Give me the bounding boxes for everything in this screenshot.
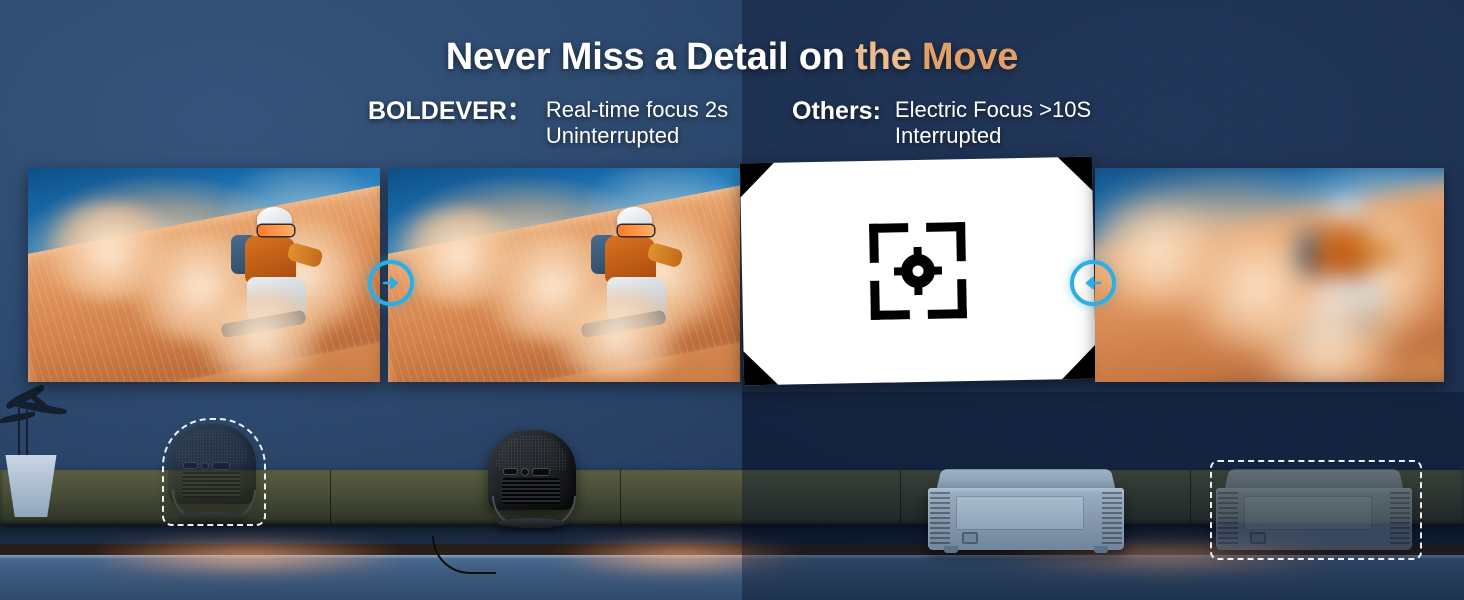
panel-others-result[interactable]: [1095, 168, 1444, 382]
card-corner-top-left-icon: [740, 163, 775, 198]
boldever-ghost-outline: [162, 418, 266, 526]
headline-part-3: Move: [922, 36, 1018, 78]
sandboarder-photo-sharp-2: [388, 168, 740, 382]
panel-boldever-before[interactable]: [28, 168, 380, 382]
autofocus-target-icon: [869, 222, 967, 320]
boldever-label: BOLDEVER：: [368, 97, 532, 125]
comparison-slider-handle-right[interactable]: [1070, 260, 1116, 306]
panel-boldever-after[interactable]: [388, 168, 740, 382]
others-label: Others:: [792, 97, 881, 125]
card-corner-bottom-right-icon: [1061, 345, 1096, 380]
boldever-projector: [488, 430, 576, 526]
headline-part-2: the: [855, 36, 922, 78]
comparison-panels: [28, 168, 1444, 382]
arrow-right-icon: [381, 273, 401, 293]
headline-part-1: Never Miss a Detail on: [446, 36, 855, 78]
advertisement-banner: Never Miss a Detail on the Move BOLDEVER…: [0, 0, 1464, 600]
sandboarder-photo-blurred: [1095, 168, 1444, 382]
comparison-label-boldever: BOLDEVER： Real-time focus 2s Uninterrupt…: [368, 97, 728, 150]
others-value: Electric Focus >10S Interrupted: [895, 97, 1091, 150]
boldever-value: Real-time focus 2s Uninterrupted: [546, 97, 728, 150]
arrow-left-icon: [1083, 273, 1103, 293]
comparison-labels: BOLDEVER： Real-time focus 2s Uninterrupt…: [0, 97, 1464, 153]
page-title: Never Miss a Detail on the Move: [0, 36, 1464, 79]
others-ghost-outline: [1210, 460, 1422, 560]
others-projector: [928, 466, 1124, 552]
comparison-label-others: Others: Electric Focus >10S Interrupted: [792, 97, 1091, 150]
lamp-glow-left: [96, 542, 396, 572]
comparison-slider-handle-left[interactable]: [368, 260, 414, 306]
card-corner-top-right-icon: [1058, 157, 1093, 192]
sandboarder-photo-sharp: [28, 168, 380, 382]
card-corner-bottom-left-icon: [744, 351, 779, 386]
panel-others-focusing[interactable]: [740, 157, 1096, 386]
